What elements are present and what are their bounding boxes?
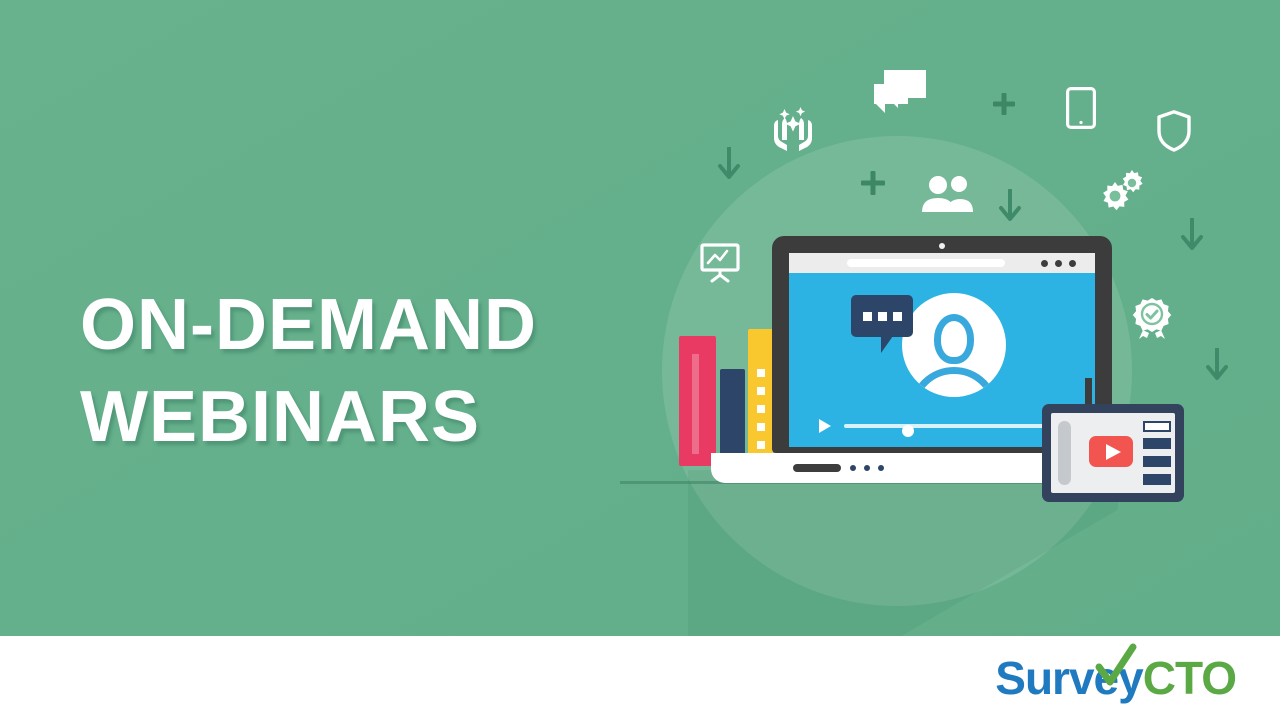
url-bar[interactable]	[847, 259, 1005, 267]
tablet-icon	[1066, 87, 1096, 129]
arrow-down-icon	[1205, 348, 1229, 382]
play-icon[interactable]	[819, 419, 831, 433]
video-card-screen	[1051, 413, 1175, 493]
avatar	[902, 293, 1006, 397]
browser-menu-dot	[1069, 260, 1076, 267]
video-card-sidebar	[1058, 421, 1071, 485]
page-title: ON-DEMAND WEBINARS	[80, 279, 640, 463]
arrow-down-icon	[1180, 218, 1204, 252]
browser-menu-dot	[1041, 260, 1048, 267]
title-line-1: ON-DEMAND	[80, 279, 640, 371]
hero-panel: ON-DEMAND WEBINARS	[0, 0, 1280, 636]
shield-icon	[1157, 110, 1191, 152]
arrow-down-icon	[998, 189, 1022, 223]
progress-knob[interactable]	[902, 425, 914, 437]
title-line-2: WEBINARS	[80, 371, 640, 463]
hands-sparkle-icon	[766, 100, 820, 154]
laptop-trackpad-bar	[793, 464, 841, 472]
chat-bubble-icon	[851, 295, 913, 337]
avatar-head	[934, 314, 974, 364]
laptop-camera	[939, 243, 945, 249]
playlist-item[interactable]	[1143, 474, 1171, 485]
browser-bar	[789, 253, 1095, 273]
playlist-item[interactable]	[1143, 456, 1171, 467]
book-yellow	[748, 329, 773, 466]
avatar-body	[909, 367, 999, 397]
gears-icon	[1101, 170, 1145, 210]
slide-root: ON-DEMAND WEBINARS	[0, 0, 1280, 720]
video-playlist-card	[1042, 404, 1184, 502]
arrow-down-icon	[717, 147, 741, 181]
checkmark-icon	[1093, 643, 1139, 689]
play-button[interactable]	[1089, 436, 1133, 467]
chat-bubbles-icon	[874, 70, 926, 118]
progress-track[interactable]	[844, 424, 1067, 428]
plus-icon	[861, 171, 885, 195]
footer-bar: SurveyCTO	[0, 636, 1280, 720]
video-progress-bar[interactable]	[819, 419, 1067, 431]
play-icon	[1106, 444, 1121, 460]
playlist-item[interactable]	[1143, 438, 1171, 449]
book-navy	[720, 369, 745, 466]
plus-icon	[993, 93, 1015, 115]
award-badge-icon	[1132, 298, 1172, 346]
book-pink	[679, 336, 716, 466]
browser-menu-dot	[1055, 260, 1062, 267]
people-icon	[921, 176, 973, 212]
logo-text-cto: CTO	[1143, 652, 1236, 704]
playlist-item[interactable]	[1143, 421, 1171, 432]
surveycto-logo[interactable]: SurveyCTO	[995, 650, 1236, 706]
presentation-chart-icon	[700, 243, 740, 283]
